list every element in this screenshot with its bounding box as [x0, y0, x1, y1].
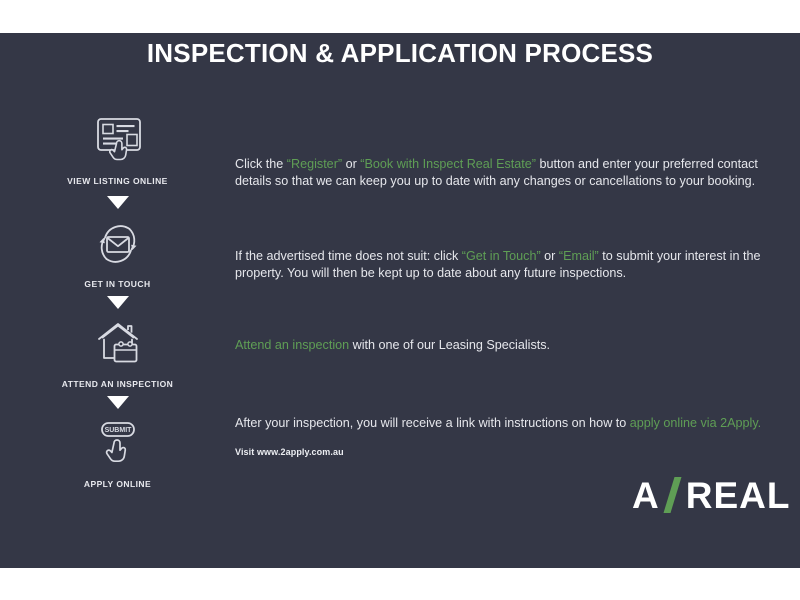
connector-row	[0, 389, 800, 415]
body-highlight-apply-online-2apply: apply online via 2Apply.	[630, 416, 761, 430]
body-fragment: with one of our Leasing Specialists.	[349, 338, 550, 352]
process-step-get-in-touch: GET IN TOUCH If the advertised time does…	[0, 215, 800, 289]
body-fragment: or	[342, 157, 360, 171]
submit-button-cursor-icon: SUBMIT	[89, 415, 147, 473]
step-icon-column: SUBMIT APPLY ONLINE	[0, 415, 235, 489]
body-fragment: After your inspection, you will receive …	[235, 416, 630, 430]
body-fragment: or	[541, 249, 559, 263]
page-title: INSPECTION & APPLICATION PROCESS	[0, 38, 800, 69]
process-step-view-listing-online: VIEW LISTING ONLINE Click the “Register”…	[0, 112, 800, 189]
arrow-down-3	[0, 389, 235, 415]
visit-url-note: Visit www.2apply.com.au	[235, 444, 770, 461]
body-highlight-get-in-touch: “Get in Touch”	[462, 249, 541, 263]
step-label: VIEW LISTING ONLINE	[67, 176, 168, 186]
body-highlight-email: “Email”	[559, 249, 599, 263]
envelope-refresh-icon	[89, 215, 147, 273]
step-label: GET IN TOUCH	[84, 279, 150, 289]
arrow-down-2	[0, 289, 235, 315]
logo-slash-icon	[662, 476, 684, 514]
house-calendar-icon	[89, 315, 147, 373]
triangle-down-icon	[107, 296, 129, 309]
submit-icon-label: SUBMIT	[104, 427, 132, 434]
listing-window-cursor-icon	[89, 112, 147, 170]
step-label: APPLY ONLINE	[84, 479, 151, 489]
step-body-text: After your inspection, you will receive …	[235, 415, 800, 460]
triangle-down-icon	[107, 396, 129, 409]
connector-row	[0, 289, 800, 315]
step-icon-column: VIEW LISTING ONLINE	[0, 112, 235, 186]
step-body-text: If the advertised time does not suit: cl…	[235, 215, 800, 281]
body-fragment: Click the	[235, 157, 287, 171]
step-icon-column: GET IN TOUCH	[0, 215, 235, 289]
logo-letter-a: A	[632, 477, 660, 514]
step-body-text: Attend an inspection with one of our Lea…	[235, 315, 800, 354]
arrow-down-1	[0, 189, 235, 215]
process-step-attend-an-inspection: ATTEND AN INSPECTION Attend an inspectio…	[0, 315, 800, 389]
areal-logo: A REAL	[632, 475, 790, 515]
step-body-text: Click the “Register” or “Book with Inspe…	[235, 112, 800, 189]
body-highlight-book-with-ire: “Book with Inspect Real Estate”	[360, 157, 536, 171]
body-highlight-register: “Register”	[287, 157, 342, 171]
logo-word-real: REAL	[686, 477, 791, 514]
body-highlight-attend-an-inspection: Attend an inspection	[235, 338, 349, 352]
connector-row	[0, 189, 800, 215]
step-icon-column: ATTEND AN INSPECTION	[0, 315, 235, 389]
triangle-down-icon	[107, 196, 129, 209]
process-steps-list: VIEW LISTING ONLINE Click the “Register”…	[0, 112, 800, 489]
slide-canvas: INSPECTION & APPLICATION PROCESS	[0, 0, 800, 600]
step-label: ATTEND AN INSPECTION	[62, 379, 173, 389]
body-fragment: If the advertised time does not suit: cl…	[235, 249, 462, 263]
